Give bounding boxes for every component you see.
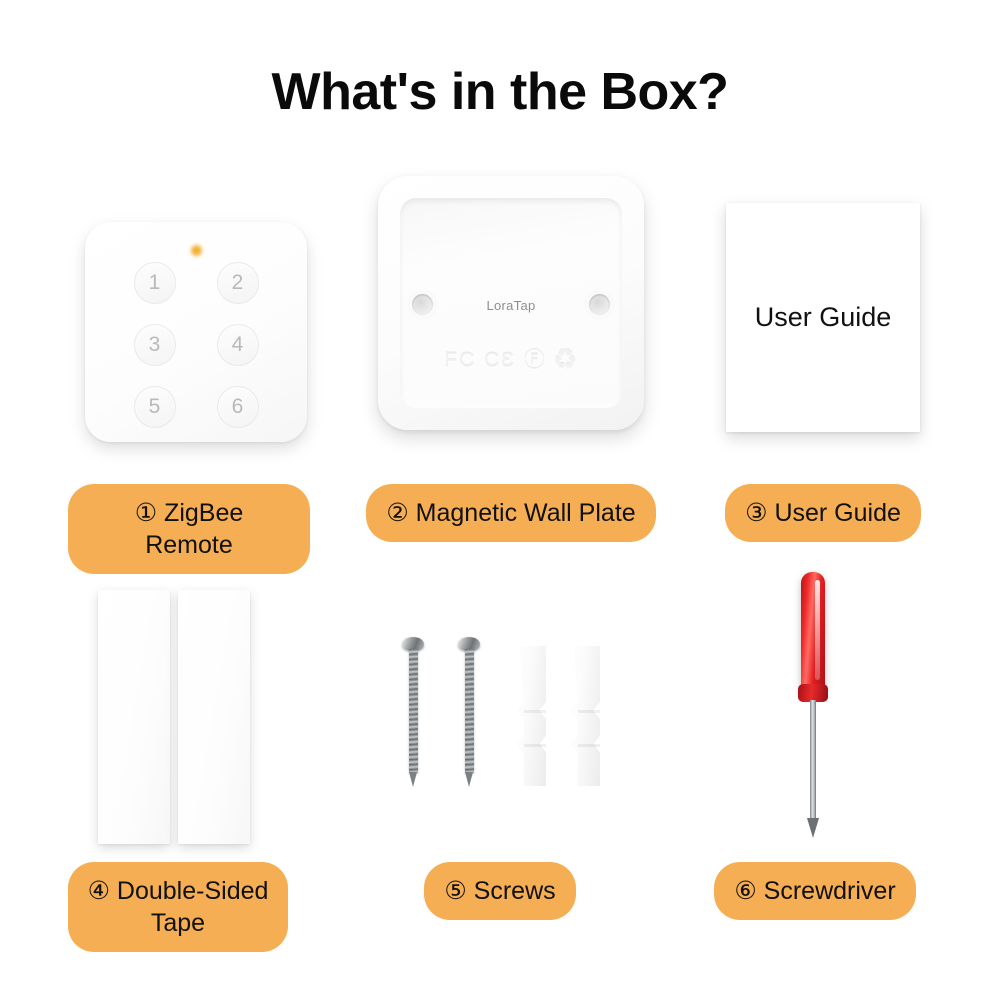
screwdriver-handle [801,572,825,694]
page-title: What's in the Box? [0,62,1000,122]
label-double-sided-tape: ④ Double-Sided Tape [68,862,289,952]
wall-anchor-ridge [578,744,600,747]
screw-shaft [465,649,474,773]
screwdriver-shaft [810,700,816,822]
label-screws-wrap: ⑤ Screws [418,862,582,920]
label-screwdriver-wrap: ⑥ Screwdriver [712,862,918,920]
screwdriver-icon [793,572,833,844]
remote-button-grid: 1 2 3 4 5 6 [85,262,307,428]
tape-strip-2 [178,590,250,844]
wall-plate-brand: LoraTap [378,298,644,313]
user-guide-cover-title: User Guide [755,302,892,333]
screw-tip [465,772,473,787]
remote-button-3[interactable]: 3 [134,324,176,366]
remote-button-2[interactable]: 2 [217,262,259,304]
label-wall-plate-wrap: ② Magnetic Wall Plate [360,484,662,542]
screwdriver-tip [807,818,819,838]
remote-button-1[interactable]: 1 [134,262,176,304]
wall-anchor-body [568,646,600,786]
wall-anchor-ridge [578,710,600,713]
label-tape-wrap: ④ Double-Sided Tape [62,862,294,952]
screw-2 [458,637,480,787]
user-guide-icon: User Guide [726,203,920,432]
zigbee-remote-icon: 1 2 3 4 5 6 [85,222,307,442]
screw-1 [402,637,424,787]
label-user-guide-wrap: ③ User Guide [716,484,930,542]
label-magnetic-wall-plate: ② Magnetic Wall Plate [366,484,655,542]
double-sided-tape-icon [98,590,258,844]
screw-tip [409,772,417,787]
remote-button-4[interactable]: 4 [217,324,259,366]
wall-anchor-ridge [524,710,546,713]
remote-button-6[interactable]: 6 [217,386,259,428]
screw-shaft [409,649,418,773]
label-user-guide: ③ User Guide [725,484,921,542]
screws-icon [396,637,604,787]
certification-marks-icon: FC CƐ Ⓕ ♻ [378,344,644,374]
wall-plate-icon: LoraTap FC CƐ Ⓕ ♻ [378,176,644,430]
remote-button-5[interactable]: 5 [134,386,176,428]
label-zigbee-remote: ① ZigBee Remote [68,484,310,574]
wall-anchor-2 [568,646,600,786]
label-screwdriver: ⑥ Screwdriver [714,862,915,920]
led-indicator-icon [190,244,203,257]
wall-anchor-body [514,646,546,786]
wall-anchor-ridge [524,744,546,747]
wall-anchor-1 [514,646,546,786]
screwdriver-handle-gloss [815,580,820,680]
label-zigbee-remote-wrap: ① ZigBee Remote [68,484,310,574]
tape-strip-1 [98,590,170,844]
label-screws: ⑤ Screws [424,862,575,920]
